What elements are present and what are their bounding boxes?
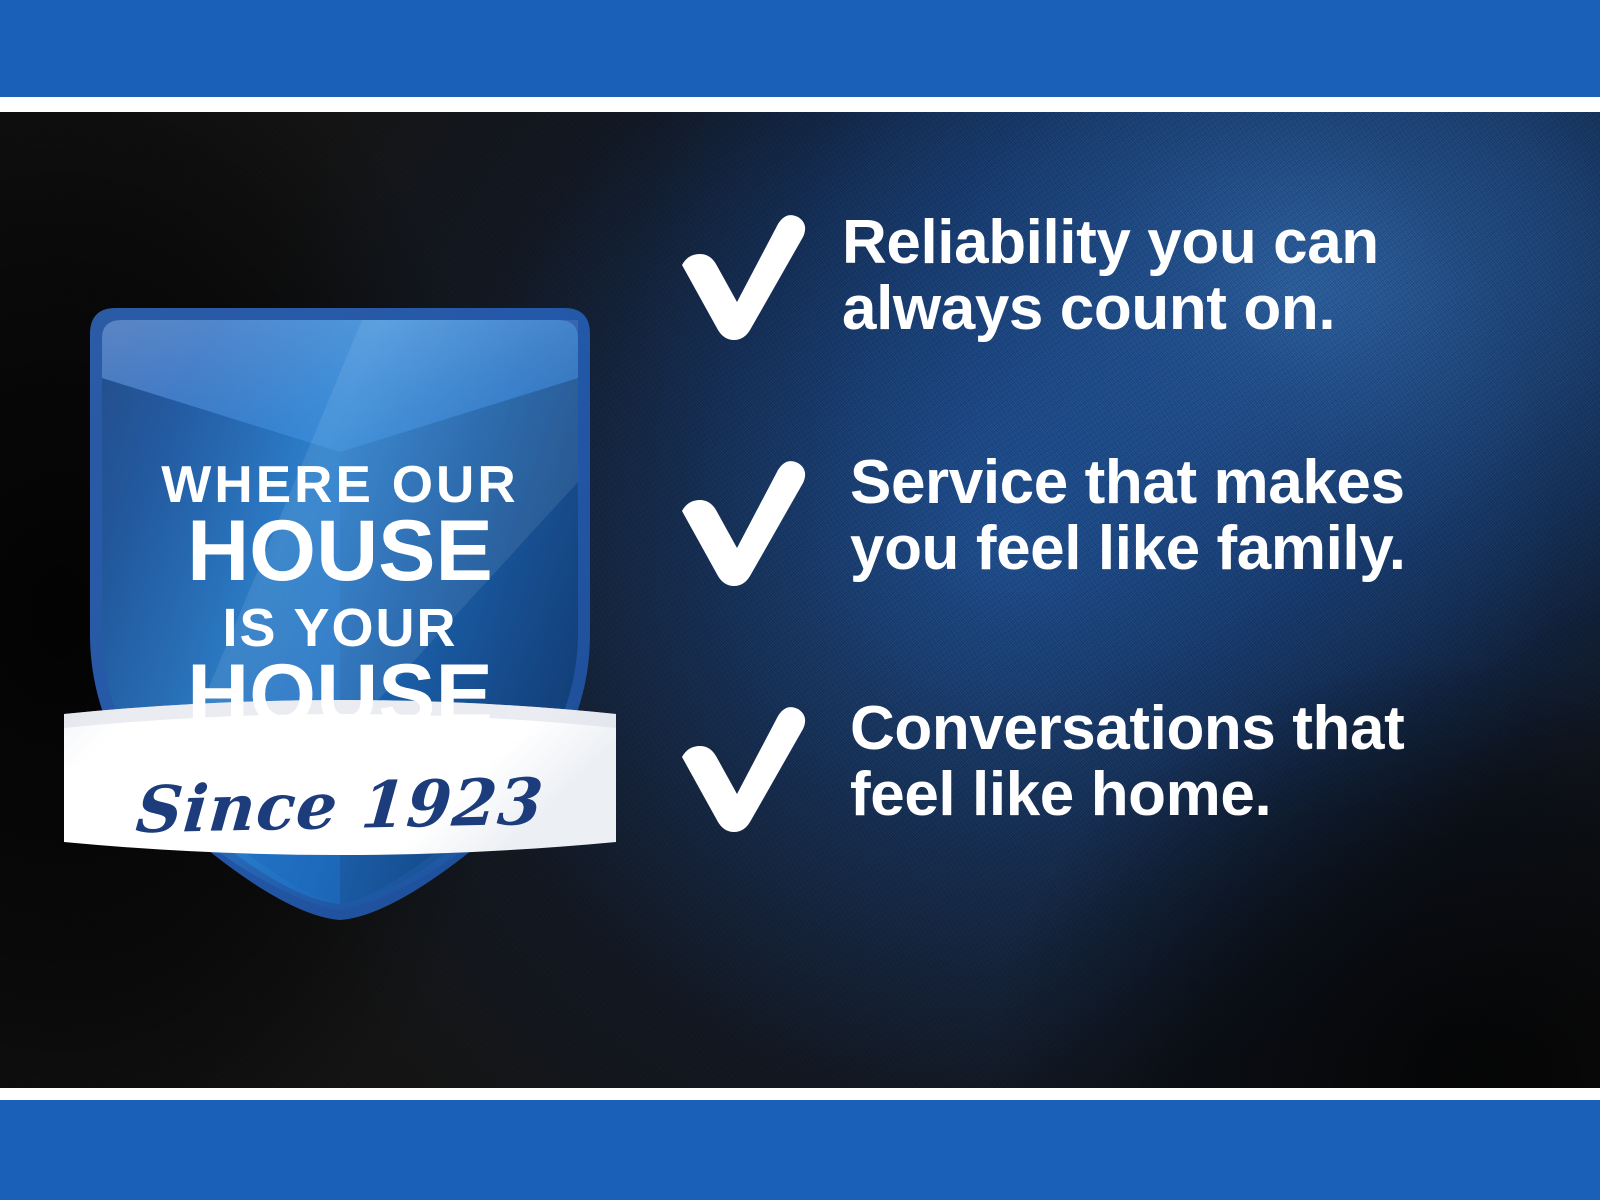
promo-poster: WHERE OUR HOUSE IS YOUR HOUSE Since 1923… — [0, 0, 1600, 1200]
bottom-brand-bar — [0, 1100, 1600, 1200]
badge-lockup-line-2: HOUSE — [62, 512, 618, 591]
list-item: Service that makes you feel like family. — [660, 448, 1480, 598]
list-item: Reliability you can always count on. — [660, 202, 1480, 352]
top-brand-bar — [0, 0, 1600, 97]
badge-lockup-line-4: HOUSE — [62, 656, 618, 735]
list-item: Conversations that feel like home. — [660, 694, 1480, 844]
checkmark-icon — [660, 448, 810, 588]
checkmark-icon — [660, 202, 810, 342]
shield-badge: WHERE OUR HOUSE IS YOUR HOUSE Since 1923 — [62, 282, 618, 922]
checkmark-icon — [660, 694, 810, 834]
benefits-list: Reliability you can always count on. Ser… — [660, 202, 1480, 844]
main-canvas: WHERE OUR HOUSE IS YOUR HOUSE Since 1923… — [0, 112, 1600, 1088]
badge-since-text: Since 1923 — [59, 763, 621, 850]
